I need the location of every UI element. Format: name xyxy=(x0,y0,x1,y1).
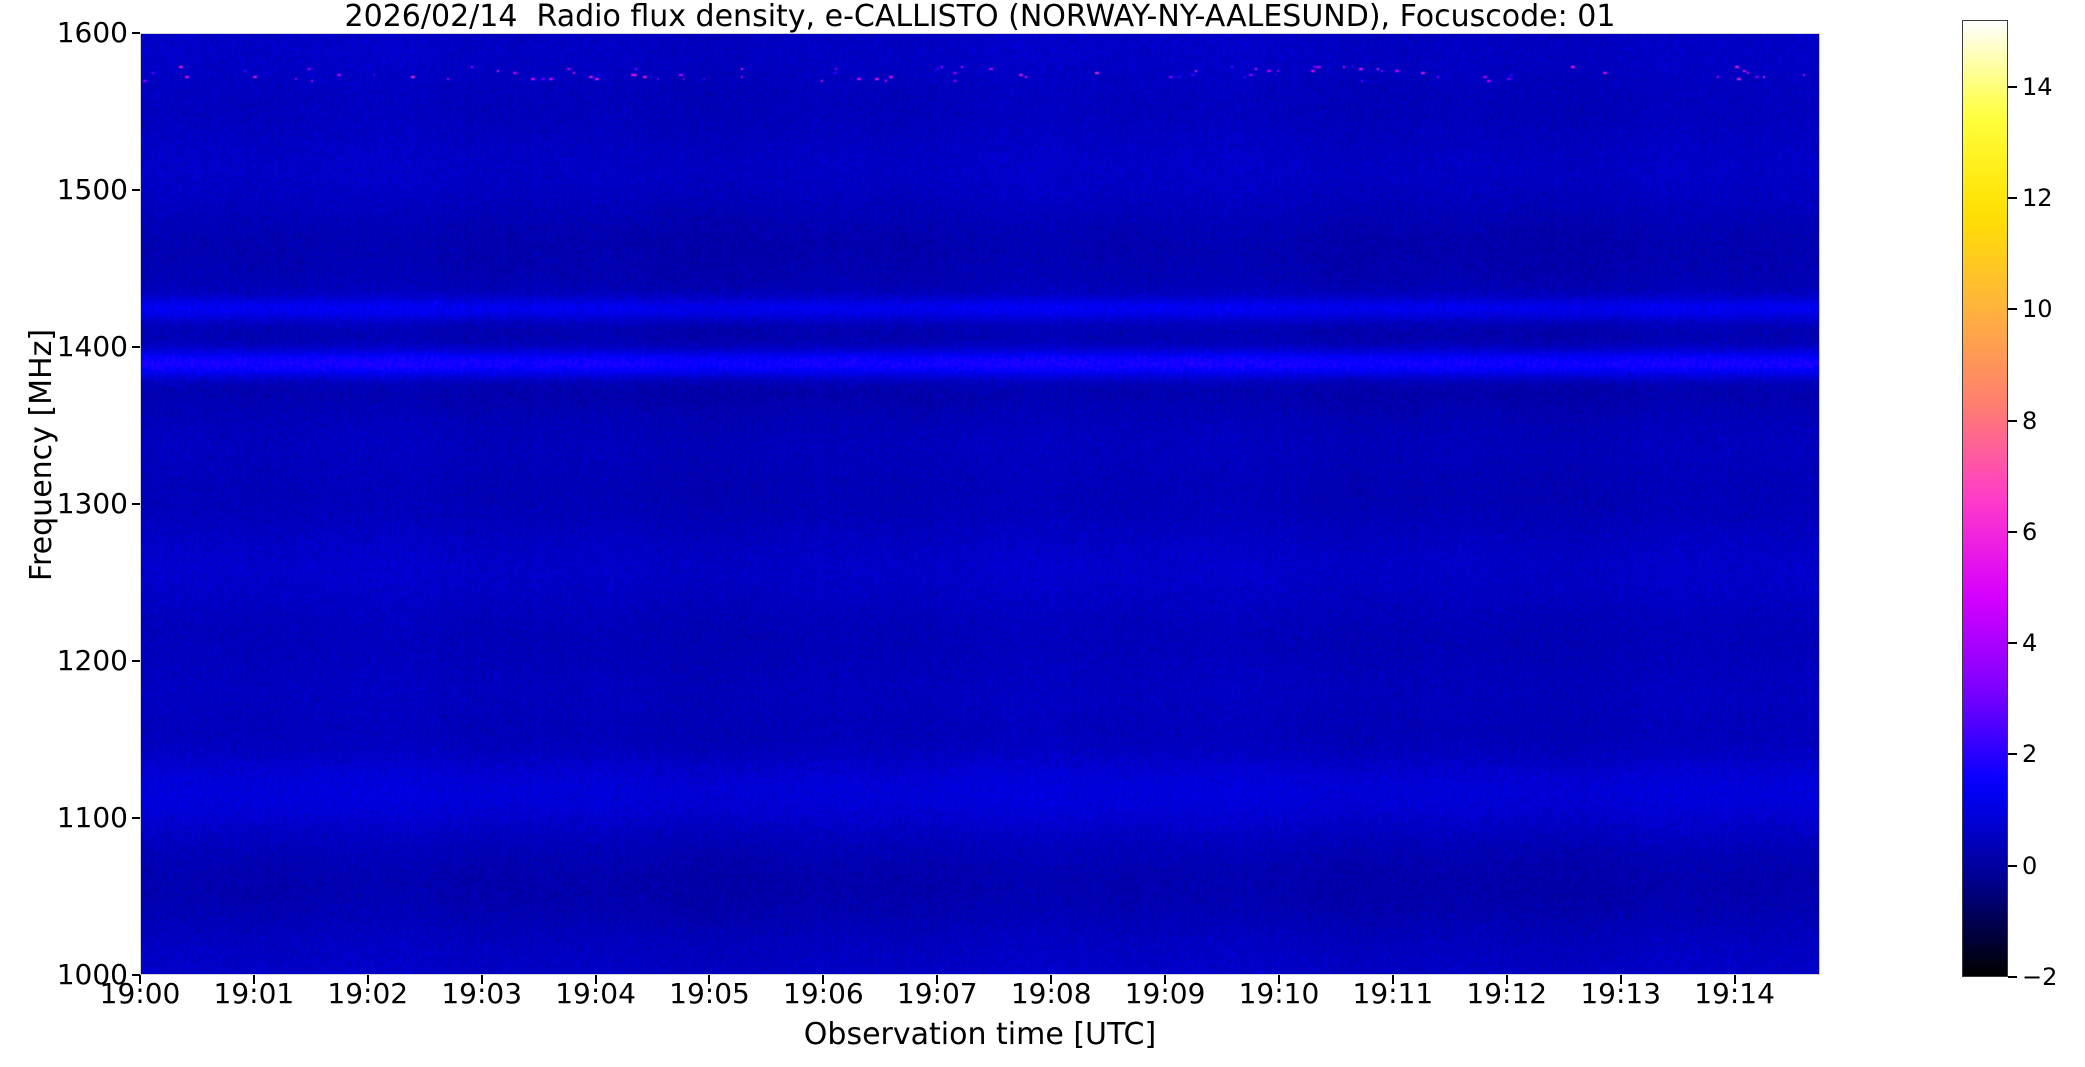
x-axis-tick-mark xyxy=(1050,975,1052,984)
y-axis-tick-mark xyxy=(132,503,140,505)
y-axis-tick-mark xyxy=(132,189,140,191)
colorbar-tick-label: 2 xyxy=(2022,742,2037,766)
y-axis-tick-label: 1500 xyxy=(0,176,128,204)
x-axis-tick-mark xyxy=(1164,975,1166,984)
colorbar-tick-label: 10 xyxy=(2022,297,2053,321)
y-axis-tick-mark xyxy=(132,346,140,348)
colorbar-tick-mark xyxy=(2008,531,2017,533)
x-axis-tick-mark xyxy=(139,975,141,984)
x-axis-tick-mark xyxy=(481,975,483,984)
x-axis-tick-mark xyxy=(1278,975,1280,984)
colorbar-gradient xyxy=(1963,21,2007,976)
y-axis-tick-label: 1600 xyxy=(0,19,128,47)
figure-canvas: 2026/02/14 Radio flux density, e-CALLIST… xyxy=(0,0,2085,1067)
spectrogram-image xyxy=(141,34,1820,975)
colorbar-tick-mark xyxy=(2008,86,2017,88)
y-axis-tick-mark xyxy=(132,32,140,34)
colorbar-tick-label: 0 xyxy=(2022,854,2037,878)
y-axis-tick-label: 1200 xyxy=(0,647,128,675)
colorbar-tick-mark xyxy=(2008,420,2017,422)
colorbar-tick-label: 14 xyxy=(2022,75,2053,99)
x-axis-tick-mark xyxy=(595,975,597,984)
y-axis-tick-label: 1300 xyxy=(0,490,128,518)
colorbar-tick-label: −2 xyxy=(2022,965,2057,989)
colorbar-tick-mark xyxy=(2008,642,2017,644)
x-axis-tick-mark xyxy=(936,975,938,984)
x-axis-title: Observation time [UTC] xyxy=(140,1019,1820,1051)
colorbar-tick-mark xyxy=(2008,753,2017,755)
y-axis-title: Frequency [MHz] xyxy=(27,225,57,685)
colorbar[interactable] xyxy=(1962,20,2008,977)
colorbar-tick-mark xyxy=(2008,865,2017,867)
y-axis-tick-mark xyxy=(132,817,140,819)
x-axis-tick-mark xyxy=(708,975,710,984)
x-axis-tick-mark xyxy=(1506,975,1508,984)
y-axis-tick-mark xyxy=(132,660,140,662)
colorbar-tick-label: 6 xyxy=(2022,520,2037,544)
x-axis-tick-mark xyxy=(1734,975,1736,984)
colorbar-tick-mark xyxy=(2008,197,2017,199)
x-axis-tick-container: 19:0019:0119:0219:0319:0419:0519:0619:07… xyxy=(140,977,1820,1017)
page-title: 2026/02/14 Radio flux density, e-CALLIST… xyxy=(140,2,1820,32)
colorbar-tick-label: 12 xyxy=(2022,186,2053,210)
colorbar-tick-container: −202468101214 xyxy=(2008,20,2085,977)
x-axis-tick-mark xyxy=(253,975,255,984)
colorbar-tick-label: 4 xyxy=(2022,631,2037,655)
colorbar-tick-mark xyxy=(2008,976,2017,978)
x-axis-tick-mark xyxy=(1620,975,1622,984)
y-axis-tick-container: 1600150014001300120011001000 xyxy=(0,33,128,975)
x-axis-tick-mark xyxy=(1392,975,1394,984)
colorbar-tick-label: 8 xyxy=(2022,409,2037,433)
x-axis-tick-mark xyxy=(822,975,824,984)
y-axis-tick-label: 1400 xyxy=(0,333,128,361)
colorbar-tick-mark xyxy=(2008,308,2017,310)
x-axis-tick-mark xyxy=(367,975,369,984)
y-axis-tick-label: 1100 xyxy=(0,804,128,832)
spectrogram-plot[interactable] xyxy=(140,33,1820,975)
